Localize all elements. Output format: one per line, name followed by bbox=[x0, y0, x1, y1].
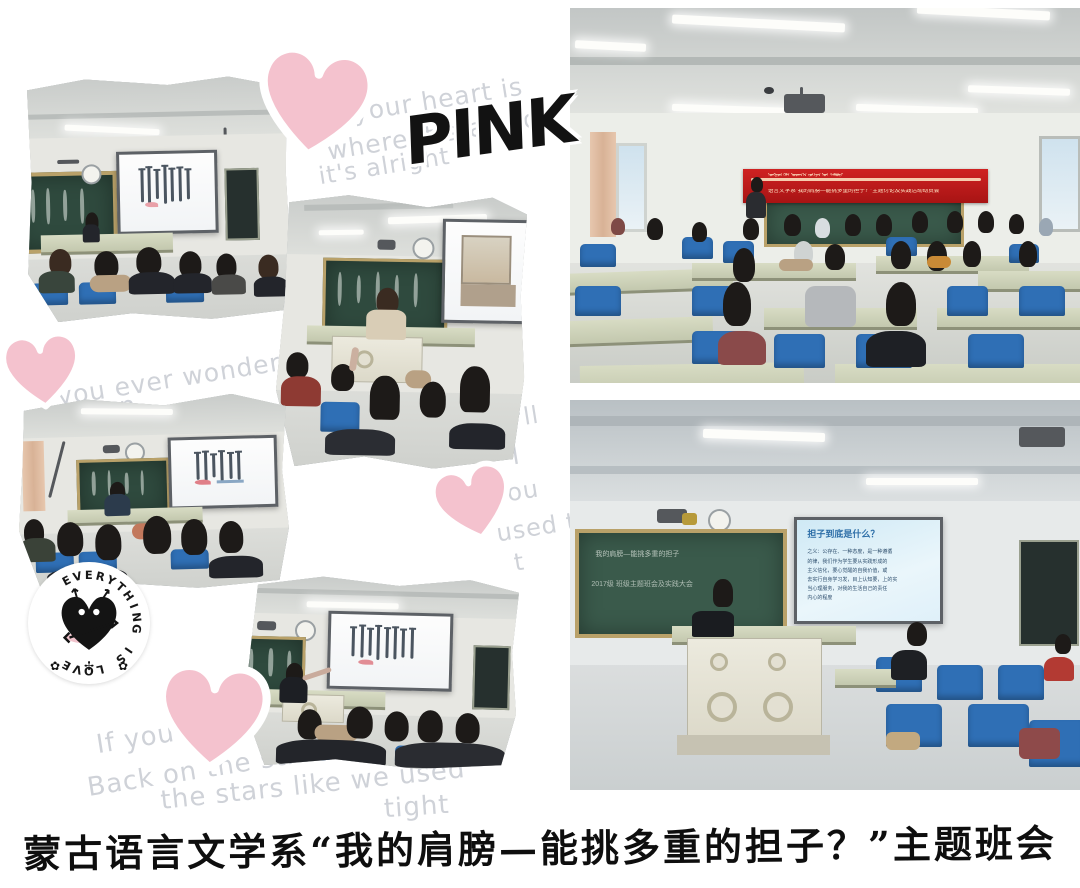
projector-screen: 担子到底是什么？ 之义：公存在、一种态度，是一种遵循 的律，我们作为学生要从实践… bbox=[794, 517, 943, 624]
slide-body-line-5: 当心理服务，对我的生活自己的责任 bbox=[807, 585, 887, 592]
blackboard: 我的肩膀—能挑多重的担子 2017级 班级主题班会及实践大会 bbox=[575, 529, 787, 638]
poster-caption: 蒙古语言文学系“我的肩膀—能挑多重的担子？”主题班会 bbox=[0, 812, 1080, 878]
photo-scene bbox=[275, 194, 528, 470]
slide-body-line-1: 之义：公存在、一种态度，是一种遵循 bbox=[807, 548, 892, 555]
projector-screen bbox=[168, 435, 278, 509]
projector-screen bbox=[326, 611, 454, 692]
photo-assembly-red-banner[interactable]: ᠮᠣᠩᠭᠣᠯ ᠬᠡᠯᠡ ᠤᠳᠬ᠎ᠠ ᠵᠣᠬᠢᠶᠠᠯ ᠤᠨ ᠰᠠᠯᠪᠤᠷᠢ 语言文… bbox=[570, 8, 1080, 383]
heart-sticker-left-mid bbox=[0, 326, 88, 414]
ceiling-projector bbox=[784, 94, 825, 113]
everything-is-love-badge: EVERYTHING IS LOVE ✿ ✢ ✿ bbox=[28, 562, 150, 684]
projector-screen bbox=[116, 149, 219, 235]
heart-sticker-bottom-left bbox=[150, 656, 276, 776]
red-banner: ᠮᠣᠩᠭᠣᠯ ᠬᠡᠯᠡ ᠤᠳᠬ᠎ᠠ ᠵᠣᠬᠢᠶᠠᠯ ᠤᠨ ᠰᠠᠯᠪᠤᠷᠢ 语言文… bbox=[743, 169, 988, 203]
ceiling-projector bbox=[1019, 427, 1065, 447]
heart-icon bbox=[150, 656, 276, 776]
blackboard-line-2: 2017级 班级主题班会及实践大会 bbox=[591, 579, 693, 589]
heart-icon bbox=[0, 326, 88, 414]
slide-body-line-3: 主义信化，要心觉醒的自我价值，或 bbox=[807, 567, 887, 574]
heart-sticker-top bbox=[247, 36, 384, 168]
lectern bbox=[687, 638, 822, 741]
badge-star-right-icon: ✿ bbox=[118, 659, 128, 673]
banner-chinese-text: 语言文学系“我的肩膀—能挑多重的担子？”主题讨论及实践活动动员会 bbox=[768, 189, 981, 195]
lyric-line-10: t bbox=[512, 547, 527, 576]
slide-body-line-2: 的律，我们作为学生要从实践形成的 bbox=[807, 558, 887, 565]
photo-scene bbox=[243, 575, 520, 772]
photo-lecture-slide-question[interactable]: 我的肩膀—能挑多重的担子 2017级 班级主题班会及实践大会 担子到底是什么？ … bbox=[570, 400, 1080, 790]
wall-clock-icon bbox=[412, 237, 434, 259]
projector-screen bbox=[441, 218, 528, 324]
heart-icon bbox=[247, 36, 384, 168]
photo-scene: ᠮᠣᠩᠭᠣᠯ ᠬᠡᠯᠡ ᠤᠳᠬ᠎ᠠ ᠵᠣᠬᠢᠶᠠᠯ ᠤᠨ ᠰᠠᠯᠪᠤᠷᠢ 语言文… bbox=[570, 8, 1080, 383]
photo-female-speaker-beige[interactable] bbox=[275, 194, 528, 470]
badge-star-left-icon: ✿ bbox=[50, 659, 60, 673]
collage-poster: your heart is where it started it's alri… bbox=[0, 0, 1080, 888]
badge-star-mid-icon: ✢ bbox=[84, 659, 94, 673]
slide-body-line-6: 内心的程度 bbox=[807, 594, 832, 601]
photo-speaker-pointing-screen[interactable] bbox=[243, 575, 520, 772]
slide-title: 担子到底是什么？ bbox=[807, 527, 879, 540]
slide-body-line-4: 去实行自身学习发，目上认知要，上的实 bbox=[807, 576, 897, 583]
photo-scene: 我的肩膀—能挑多重的担子 2017级 班级主题班会及实践大会 担子到底是什么？ … bbox=[570, 400, 1080, 790]
banner-mongolian-text: ᠮᠣᠩᠭᠣᠯ ᠬᠡᠯᠡ ᠤᠳᠬ᠎ᠠ ᠵᠣᠬᠢᠶᠠᠯ ᠤᠨ ᠰᠠᠯᠪᠤᠷᠢ bbox=[768, 173, 981, 178]
blackboard-line-1: 我的肩膀—能挑多重的担子 bbox=[595, 549, 679, 559]
